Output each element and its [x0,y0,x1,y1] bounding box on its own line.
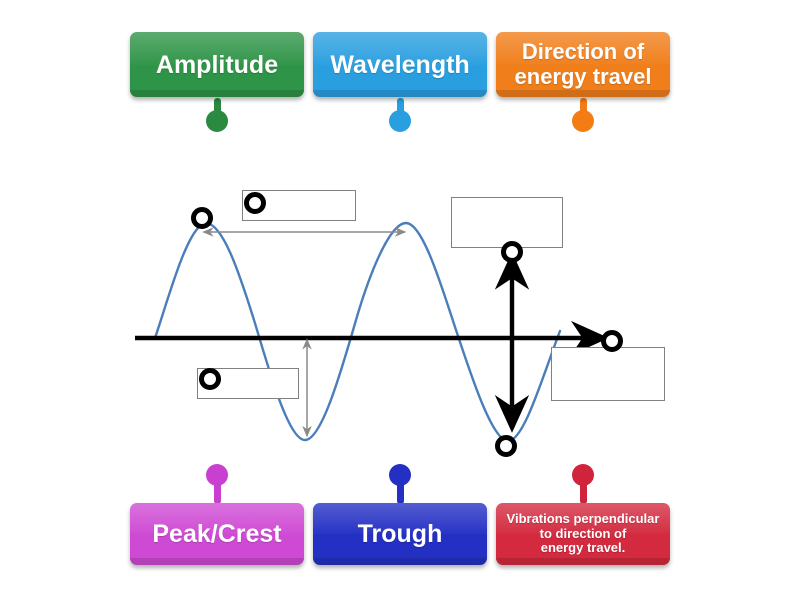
label-card-direction[interactable]: Direction of energy travel [496,32,670,97]
target-wavelength-box[interactable] [244,192,266,214]
connector-stem-peak [214,476,221,504]
connector-stem-trough [397,476,404,504]
label-card-vibrations-text-line1: Vibrations perpendicular [507,512,660,527]
label-card-trough[interactable]: Trough [313,503,487,565]
label-card-peak-text: Peak/Crest [152,520,281,548]
label-card-vibrations-text-line2: to direction of [540,527,627,542]
target-peak-marker[interactable] [191,207,213,229]
target-peak-box[interactable] [199,368,221,390]
label-card-amplitude[interactable]: Amplitude [130,32,304,97]
connector-dot-direction[interactable] [572,110,594,132]
label-card-amplitude-text: Amplitude [156,51,278,79]
label-card-direction-text-line1: Direction of [522,40,644,65]
label-card-wavelength[interactable]: Wavelength [313,32,487,97]
label-card-vibrations-text-line3: energy travel. [541,541,626,556]
connector-dot-wavelength[interactable] [389,110,411,132]
label-card-direction-text-line2: energy travel [515,65,652,90]
drop-zone-vibrations[interactable] [551,347,665,401]
label-card-wavelength-text: Wavelength [330,51,469,79]
target-direction-marker[interactable] [501,241,523,263]
wave-curve [155,223,560,441]
connector-stem-vibrations [580,476,587,504]
label-card-peak[interactable]: Peak/Crest [130,503,304,565]
connector-dot-amplitude[interactable] [206,110,228,132]
target-trough-marker[interactable] [495,435,517,457]
label-card-trough-text: Trough [358,520,443,548]
drop-zone-direction[interactable] [451,197,563,248]
activity-canvas: Amplitude Wavelength Direction of energy… [0,0,800,600]
target-energy-marker[interactable] [601,330,623,352]
label-card-vibrations[interactable]: Vibrations perpendicular to direction of… [496,503,670,565]
